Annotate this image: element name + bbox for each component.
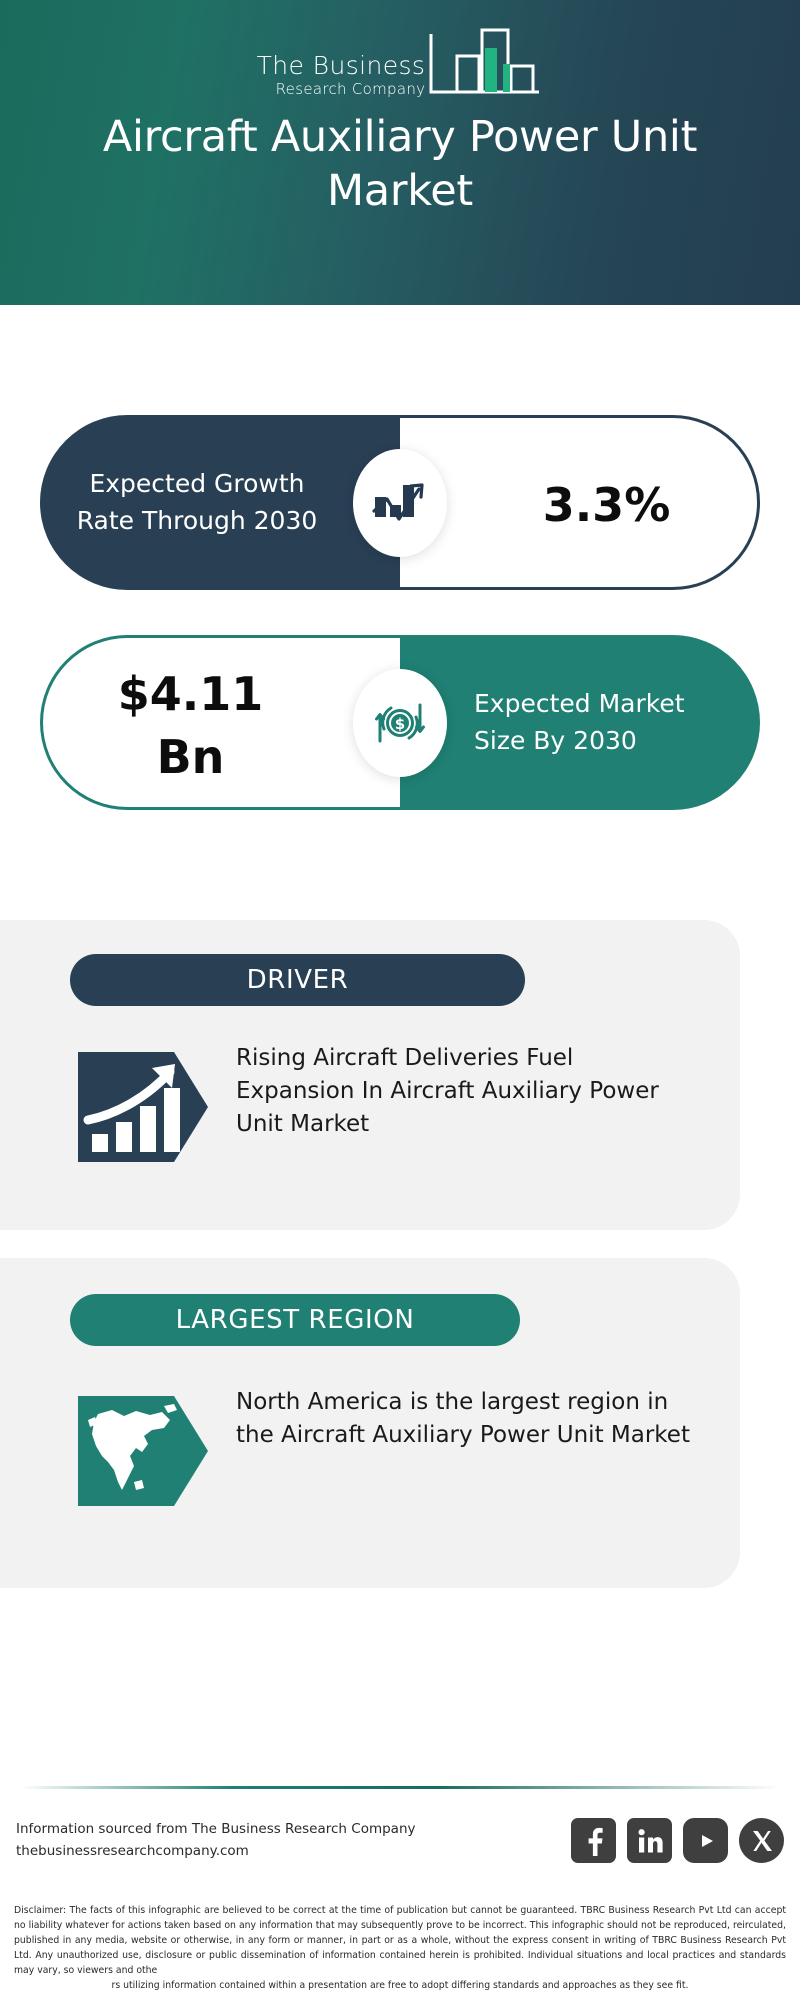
dollar-cycle-icon: $ bbox=[353, 669, 447, 777]
logo-wordmark: The Business Research Company bbox=[257, 53, 426, 103]
source-website[interactable]: thebusinessresearchcompany.com bbox=[16, 1840, 446, 1862]
facebook-icon[interactable] bbox=[571, 1818, 616, 1863]
youtube-icon[interactable] bbox=[683, 1818, 728, 1863]
disclaimer-text: Disclaimer: The facts of this infographi… bbox=[14, 1903, 786, 1993]
x-twitter-icon[interactable] bbox=[739, 1818, 784, 1863]
driver-content: Rising Aircraft Deliveries Fuel Expansio… bbox=[78, 1042, 693, 1172]
company-logo: The Business Research Company bbox=[0, 26, 800, 103]
stat-card-value-line-2: Bn bbox=[67, 726, 314, 788]
stat-card-value-panel: 3.3% bbox=[400, 415, 760, 590]
source-attribution: Information sourced from The Business Re… bbox=[16, 1818, 446, 1863]
stat-card-value: $4.11 Bn bbox=[43, 638, 400, 813]
north-america-map-icon bbox=[78, 1386, 208, 1516]
linkedin-icon[interactable] bbox=[627, 1818, 672, 1863]
source-line-1: Information sourced from The Business Re… bbox=[16, 1818, 446, 1840]
stat-card-value-panel: $4.11 Bn bbox=[40, 635, 400, 810]
social-links bbox=[571, 1818, 784, 1863]
largest-region-pill: LARGEST REGION bbox=[70, 1294, 520, 1346]
footer-divider bbox=[20, 1786, 780, 1789]
stat-card-growth-rate: Expected Growth Rate Through 2030 3.3% bbox=[40, 415, 760, 590]
logo-line-2: Research Company bbox=[276, 80, 426, 100]
largest-region-content: North America is the largest region in t… bbox=[78, 1386, 698, 1516]
growth-chart-arrow-icon bbox=[353, 449, 447, 557]
stat-card-label: Expected Market Size By 2030 bbox=[400, 635, 760, 810]
driver-panel: DRIVER Rising Aircraft Deliveries Fuel E… bbox=[0, 920, 740, 1230]
svg-text:$: $ bbox=[395, 715, 405, 733]
disclaimer-last-line: rs utilizing information contained withi… bbox=[14, 1978, 786, 1993]
largest-region-text: North America is the largest region in t… bbox=[236, 1386, 698, 1452]
header-banner: The Business Research Company Aircraft A… bbox=[0, 0, 800, 305]
infographic-page: The Business Research Company Aircraft A… bbox=[0, 0, 800, 2000]
largest-region-panel: LARGEST REGION North America is the larg… bbox=[0, 1258, 740, 1588]
logo-line-1: The Business bbox=[257, 53, 426, 79]
driver-text: Rising Aircraft Deliveries Fuel Expansio… bbox=[236, 1042, 693, 1141]
stat-card-label: Expected Growth Rate Through 2030 bbox=[40, 415, 400, 590]
stat-card-market-size: $4.11 Bn Expected Market Size By 2030 $ bbox=[40, 635, 760, 810]
bar-chart-logo-icon bbox=[427, 26, 543, 103]
driver-pill: DRIVER bbox=[70, 954, 525, 1006]
stat-card-value: 3.3% bbox=[400, 418, 757, 593]
rising-bar-chart-arrow-icon bbox=[78, 1042, 208, 1172]
page-title: Aircraft Auxiliary Power Unit Market bbox=[40, 110, 760, 218]
stat-card-label-panel: Expected Market Size By 2030 bbox=[400, 635, 760, 810]
disclaimer-body: Disclaimer: The facts of this infographi… bbox=[14, 1905, 786, 1976]
stat-card-value-line-1: $4.11 bbox=[67, 663, 314, 725]
stat-card-label-panel: Expected Growth Rate Through 2030 bbox=[40, 415, 400, 590]
